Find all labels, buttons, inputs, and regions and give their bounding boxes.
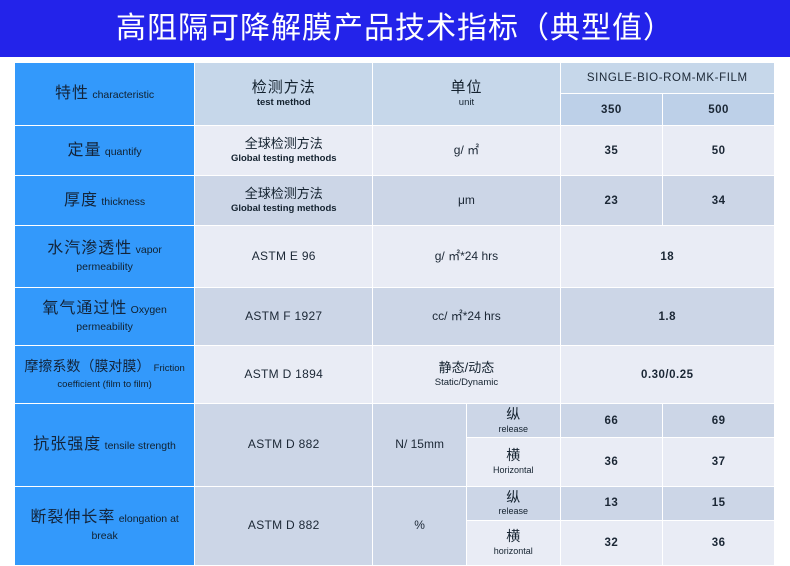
row-characteristic: 定量 quantify [15, 126, 194, 175]
table-row-friction-coefficient: 摩擦系数（膜对膜） Friction coefficient (film to … [15, 346, 774, 403]
header-unit: 单位 unit [373, 63, 559, 125]
header-characteristic-en: characteristic [92, 89, 154, 101]
row-unit: μm [373, 176, 559, 225]
row-characteristic: 水汽渗透性 vapor permeability [15, 226, 194, 287]
header-grade-500-label: 500 [708, 104, 729, 116]
row-value-350-label: 66 [604, 415, 618, 427]
row-characteristic-en: tensile strength [105, 440, 176, 452]
title-banner: 高阻隔可降解膜产品技术指标（典型值） [0, 0, 790, 57]
header-characteristic: 特性 characteristic [15, 63, 194, 125]
row-unit-label: g/ ㎡*24 hrs [435, 249, 498, 263]
row-unit: g/ ㎡ [373, 126, 559, 175]
row-value-350-label: 13 [604, 497, 618, 509]
row-characteristic-cn: 定量 [68, 142, 102, 159]
row-characteristic-en: thickness [101, 196, 145, 208]
row-unit: cc/ ㎡*24 hrs [373, 288, 559, 345]
header-unit-en: unit [376, 97, 556, 109]
table-row-oxygen-permeability: 氧气通过性 Oxygen permeability ASTM F 1927 cc… [15, 288, 774, 345]
table-row-thickness: 厚度 thickness 全球检测方法 Global testing metho… [15, 176, 774, 225]
table-header-row-1: 特性 characteristic 检测方法 test method 单位 un… [15, 63, 774, 93]
row-direction: 横 Horizontal [467, 438, 560, 486]
row-method-cn: ASTM D 882 [248, 518, 320, 532]
row-direction-cn: 纵 [470, 489, 557, 507]
row-characteristic: 摩擦系数（膜对膜） Friction coefficient (film to … [15, 346, 194, 403]
header-product-label: SINGLE-BIO-ROM-MK-FILM [587, 72, 748, 84]
row-method-cn: ASTM E 96 [252, 249, 316, 263]
row-unit-label: % [414, 518, 425, 532]
row-characteristic: 断裂伸长率 elongation at break [15, 487, 194, 565]
row-direction: 纵 release [467, 404, 560, 437]
row-method-cn: 全球检测方法 [198, 186, 369, 202]
row-characteristic-cn: 摩擦系数（膜对膜） [24, 358, 150, 374]
row-unit: 静态/动态 Static/Dynamic [373, 346, 559, 403]
row-method-en: Global testing methods [198, 203, 369, 215]
header-method-cn: 检测方法 [198, 79, 369, 98]
row-characteristic-cn: 抗张强度 [33, 436, 101, 453]
row-value-merged-label: 0.30/0.25 [641, 369, 693, 381]
row-value-350-label: 32 [604, 537, 618, 549]
row-value-350: 36 [561, 438, 663, 486]
row-method: 全球检测方法 Global testing methods [195, 126, 372, 175]
header-unit-cn: 单位 [376, 79, 556, 98]
row-method-cn: 全球检测方法 [198, 136, 369, 152]
row-value-350: 13 [561, 487, 663, 520]
row-value-merged-label: 1.8 [659, 311, 677, 323]
row-value-350: 66 [561, 404, 663, 437]
row-value-350-label: 23 [604, 195, 618, 207]
row-value-500: 37 [663, 438, 774, 486]
header-method: 检测方法 test method [195, 63, 372, 125]
row-value-500-label: 34 [712, 195, 726, 207]
row-value-merged-label: 18 [660, 251, 674, 263]
row-method: ASTM F 1927 [195, 288, 372, 345]
row-value-500: 69 [663, 404, 774, 437]
row-value-500-label: 50 [712, 145, 726, 157]
table-row-tensile-strength: 抗张强度 tensile strength ASTM D 882 N/ 15mm… [15, 404, 774, 437]
row-value-350: 32 [561, 521, 663, 565]
slide-root: 高阻隔可降解膜产品技术指标（典型值） 特性 characteristic 检测方… [0, 0, 790, 562]
row-value-350: 23 [561, 176, 663, 225]
row-value-500: 36 [663, 521, 774, 565]
page-title: 高阻隔可降解膜产品技术指标（典型值） [116, 14, 674, 44]
header-grade-350-label: 350 [601, 104, 622, 116]
row-method: 全球检测方法 Global testing methods [195, 176, 372, 225]
table-row-quantify: 定量 quantify 全球检测方法 Global testing method… [15, 126, 774, 175]
row-unit-cn: 静态/动态 [376, 360, 556, 376]
row-method: ASTM D 882 [195, 404, 372, 486]
row-method: ASTM E 96 [195, 226, 372, 287]
row-direction: 横 horizontal [467, 521, 560, 565]
row-method: ASTM D 1894 [195, 346, 372, 403]
row-characteristic: 厚度 thickness [15, 176, 194, 225]
header-grade-350: 350 [561, 94, 663, 125]
header-characteristic-cn: 特性 [55, 85, 89, 102]
row-characteristic: 抗张强度 tensile strength [15, 404, 194, 486]
row-value-500-label: 37 [712, 456, 726, 468]
row-method: ASTM D 882 [195, 487, 372, 565]
row-characteristic: 氧气通过性 Oxygen permeability [15, 288, 194, 345]
row-value-350: 35 [561, 126, 663, 175]
row-value-merged: 18 [561, 226, 774, 287]
table-row-elongation-at-break: 断裂伸长率 elongation at break ASTM D 882 % 纵… [15, 487, 774, 520]
row-value-merged: 0.30/0.25 [561, 346, 774, 403]
row-method-cn: ASTM D 882 [248, 437, 320, 451]
row-value-500: 15 [663, 487, 774, 520]
row-unit: g/ ㎡*24 hrs [373, 226, 559, 287]
row-value-merged: 1.8 [561, 288, 774, 345]
row-direction: 纵 release [467, 487, 560, 520]
row-value-350-label: 36 [604, 456, 618, 468]
row-unit: % [373, 487, 466, 565]
row-unit-en: Static/Dynamic [376, 377, 556, 389]
row-unit-label: N/ 15mm [395, 437, 444, 451]
row-characteristic-cn: 厚度 [64, 192, 98, 209]
spec-table-container: 特性 characteristic 检测方法 test method 单位 un… [14, 62, 775, 566]
row-unit: N/ 15mm [373, 404, 466, 486]
row-value-500: 34 [663, 176, 774, 225]
row-method-cn: ASTM D 1894 [244, 367, 323, 381]
row-direction-en: release [470, 424, 557, 435]
row-direction-en: release [470, 506, 557, 517]
row-unit-label: μm [458, 193, 475, 207]
row-direction-cn: 纵 [470, 406, 557, 424]
row-characteristic-cn: 氧气通过性 [42, 300, 127, 317]
row-characteristic-en: quantify [105, 146, 142, 158]
row-value-350-label: 35 [604, 145, 618, 157]
row-unit-label: cc/ ㎡*24 hrs [432, 309, 501, 323]
row-method-en: Global testing methods [198, 153, 369, 165]
spec-table: 特性 characteristic 检测方法 test method 单位 un… [14, 62, 775, 566]
table-row-vapor-permeability: 水汽渗透性 vapor permeability ASTM E 96 g/ ㎡*… [15, 226, 774, 287]
row-direction-en: Horizontal [470, 465, 557, 476]
row-characteristic-cn: 水汽渗透性 [47, 240, 132, 257]
header-product-name: SINGLE-BIO-ROM-MK-FILM [561, 63, 774, 93]
row-value-500: 50 [663, 126, 774, 175]
header-method-en: test method [198, 97, 369, 109]
row-value-500-label: 15 [712, 497, 726, 509]
row-direction-en: horizontal [470, 546, 557, 557]
row-characteristic-cn: 断裂伸长率 [30, 509, 115, 526]
row-unit-label: g/ ㎡ [454, 143, 479, 157]
row-method-cn: ASTM F 1927 [245, 309, 322, 323]
row-direction-cn: 横 [470, 528, 557, 546]
row-direction-cn: 横 [470, 447, 557, 465]
row-value-500-label: 36 [712, 537, 726, 549]
row-value-500-label: 69 [712, 415, 726, 427]
header-grade-500: 500 [663, 94, 774, 125]
